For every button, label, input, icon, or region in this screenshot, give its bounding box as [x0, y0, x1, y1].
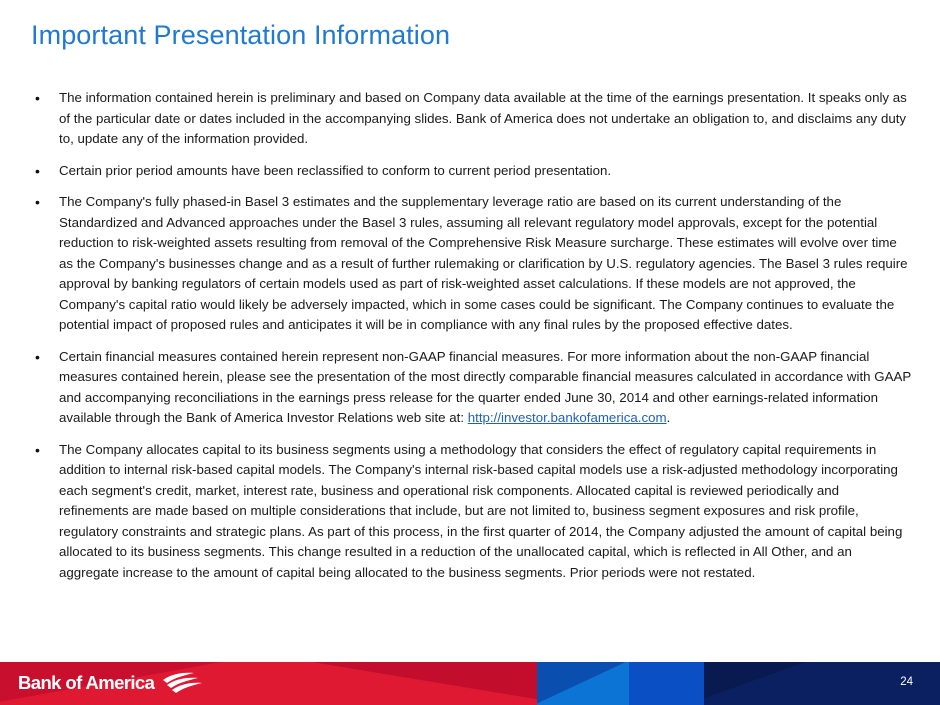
bullet-point-icon: •	[35, 88, 45, 109]
bullet-point-icon: •	[35, 440, 45, 461]
footer-accent-diagonal	[300, 662, 560, 705]
bullet-text-tail: .	[667, 410, 671, 425]
list-item: • The information contained herein is pr…	[31, 88, 911, 150]
page-number: 24	[900, 675, 913, 689]
bullet-point-icon: •	[35, 347, 45, 368]
bullet-text: The Company's fully phased-in Basel 3 es…	[59, 192, 911, 336]
page-title: Important Presentation Information	[31, 18, 450, 52]
investor-relations-link[interactable]: http://investor.bankofamerica.com	[468, 410, 667, 425]
bullet-text: Certain prior period amounts have been r…	[59, 161, 911, 182]
slide-footer: 24 Bank of America	[0, 662, 940, 705]
bullet-list: • The information contained herein is pr…	[31, 88, 911, 594]
bullet-text: The Company allocates capital to its bus…	[59, 440, 911, 584]
bullet-point-icon: •	[35, 161, 45, 182]
presentation-slide: Important Presentation Information • The…	[0, 0, 940, 705]
footer-accent-diagonal	[704, 662, 824, 705]
footer-band-blue-medium	[629, 662, 704, 705]
list-item: • Certain financial measures contained h…	[31, 347, 911, 429]
list-item: • The Company allocates capital to its b…	[31, 440, 911, 584]
list-item: • Certain prior period amounts have been…	[31, 161, 911, 182]
footer-band-blue-light	[537, 662, 629, 705]
bank-of-america-logo: Bank of America	[18, 672, 203, 694]
footer-accent-diagonal	[537, 662, 629, 705]
bullet-text: The information contained herein is prel…	[59, 88, 911, 150]
footer-band-navy: 24	[704, 662, 940, 705]
logo-wordmark: Bank of America	[18, 672, 154, 694]
flagscape-icon	[161, 672, 203, 694]
bullet-text-with-link: Certain financial measures contained her…	[59, 347, 911, 429]
list-item: • The Company's fully phased-in Basel 3 …	[31, 192, 911, 336]
bullet-point-icon: •	[35, 192, 45, 213]
